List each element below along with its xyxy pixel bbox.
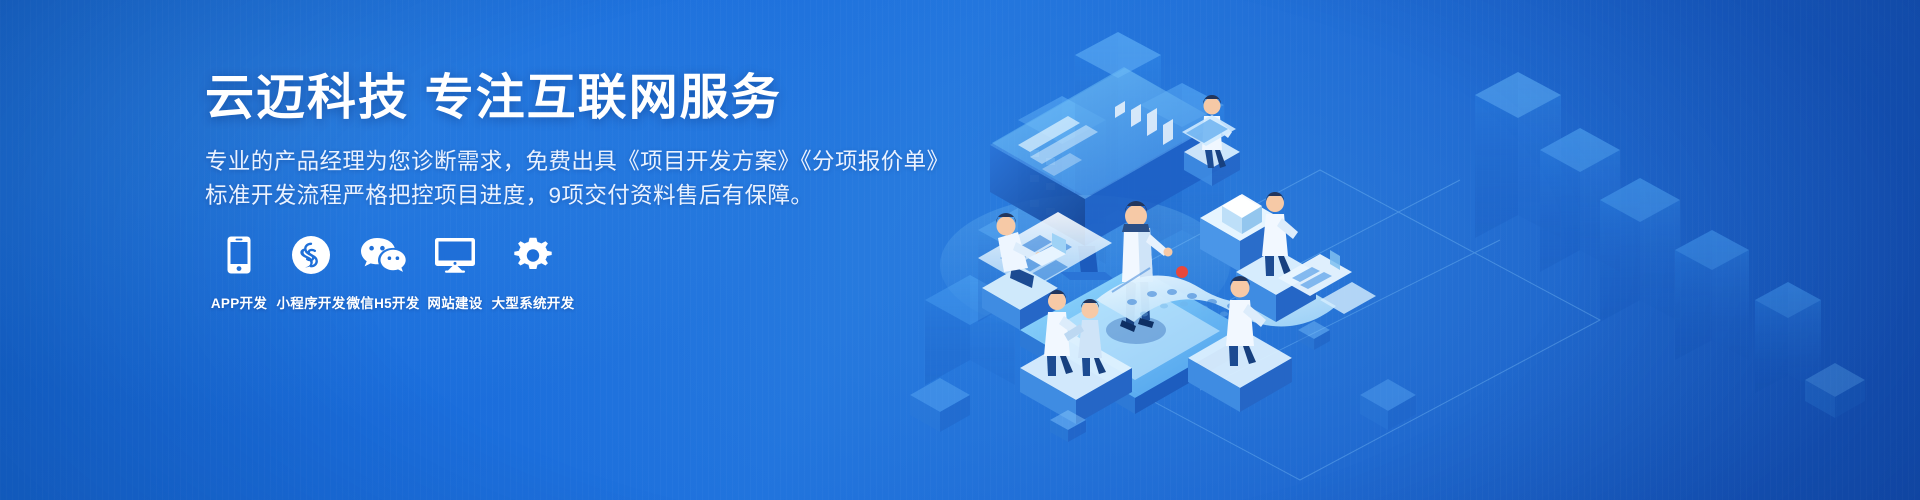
miniprogram-icon — [292, 232, 330, 278]
hero-text-block: 云迈科技 专注互联网服务 专业的产品经理为您诊断需求，免费出具《项目开发方案》《… — [205, 72, 905, 213]
service-item-website[interactable]: 网站建设 — [419, 232, 491, 312]
service-item-app[interactable]: APP开发 — [203, 232, 275, 312]
subtitle-line-2: 标准开发流程严格把控项目进度，9项交付资料售后有保障。 — [205, 179, 905, 213]
isometric-tech-illustration — [900, 0, 1920, 500]
service-item-wechat[interactable]: 微信H5开发 — [347, 232, 419, 312]
service-label-wechat: 微信H5开发 — [346, 292, 419, 312]
service-item-miniprogram[interactable]: 小程序开发 — [275, 232, 347, 312]
monitor-icon — [434, 232, 476, 278]
wechat-icon — [360, 232, 406, 278]
service-label-app: APP开发 — [211, 292, 267, 312]
service-label-website: 网站建设 — [427, 292, 482, 312]
service-label-miniprogram: 小程序开发 — [277, 292, 346, 312]
hero-banner: 云迈科技 专注互联网服务 专业的产品经理为您诊断需求，免费出具《项目开发方案》《… — [0, 0, 1920, 500]
subtitle-line-1: 专业的产品经理为您诊断需求，免费出具《项目开发方案》《分项报价单》 — [205, 145, 905, 179]
page-title: 云迈科技 专注互联网服务 — [205, 72, 905, 125]
service-label-system: 大型系统开发 — [492, 292, 575, 312]
subtitle-block: 专业的产品经理为您诊断需求，免费出具《项目开发方案》《分项报价单》 标准开发流程… — [205, 145, 905, 213]
service-icon-row: APP开发 小程序开发 — [203, 232, 575, 312]
service-item-system[interactable]: 大型系统开发 — [491, 232, 575, 312]
mobile-phone-icon — [227, 232, 251, 278]
accent-cubes-2 — [1298, 321, 1330, 350]
gear-icon — [513, 232, 553, 278]
